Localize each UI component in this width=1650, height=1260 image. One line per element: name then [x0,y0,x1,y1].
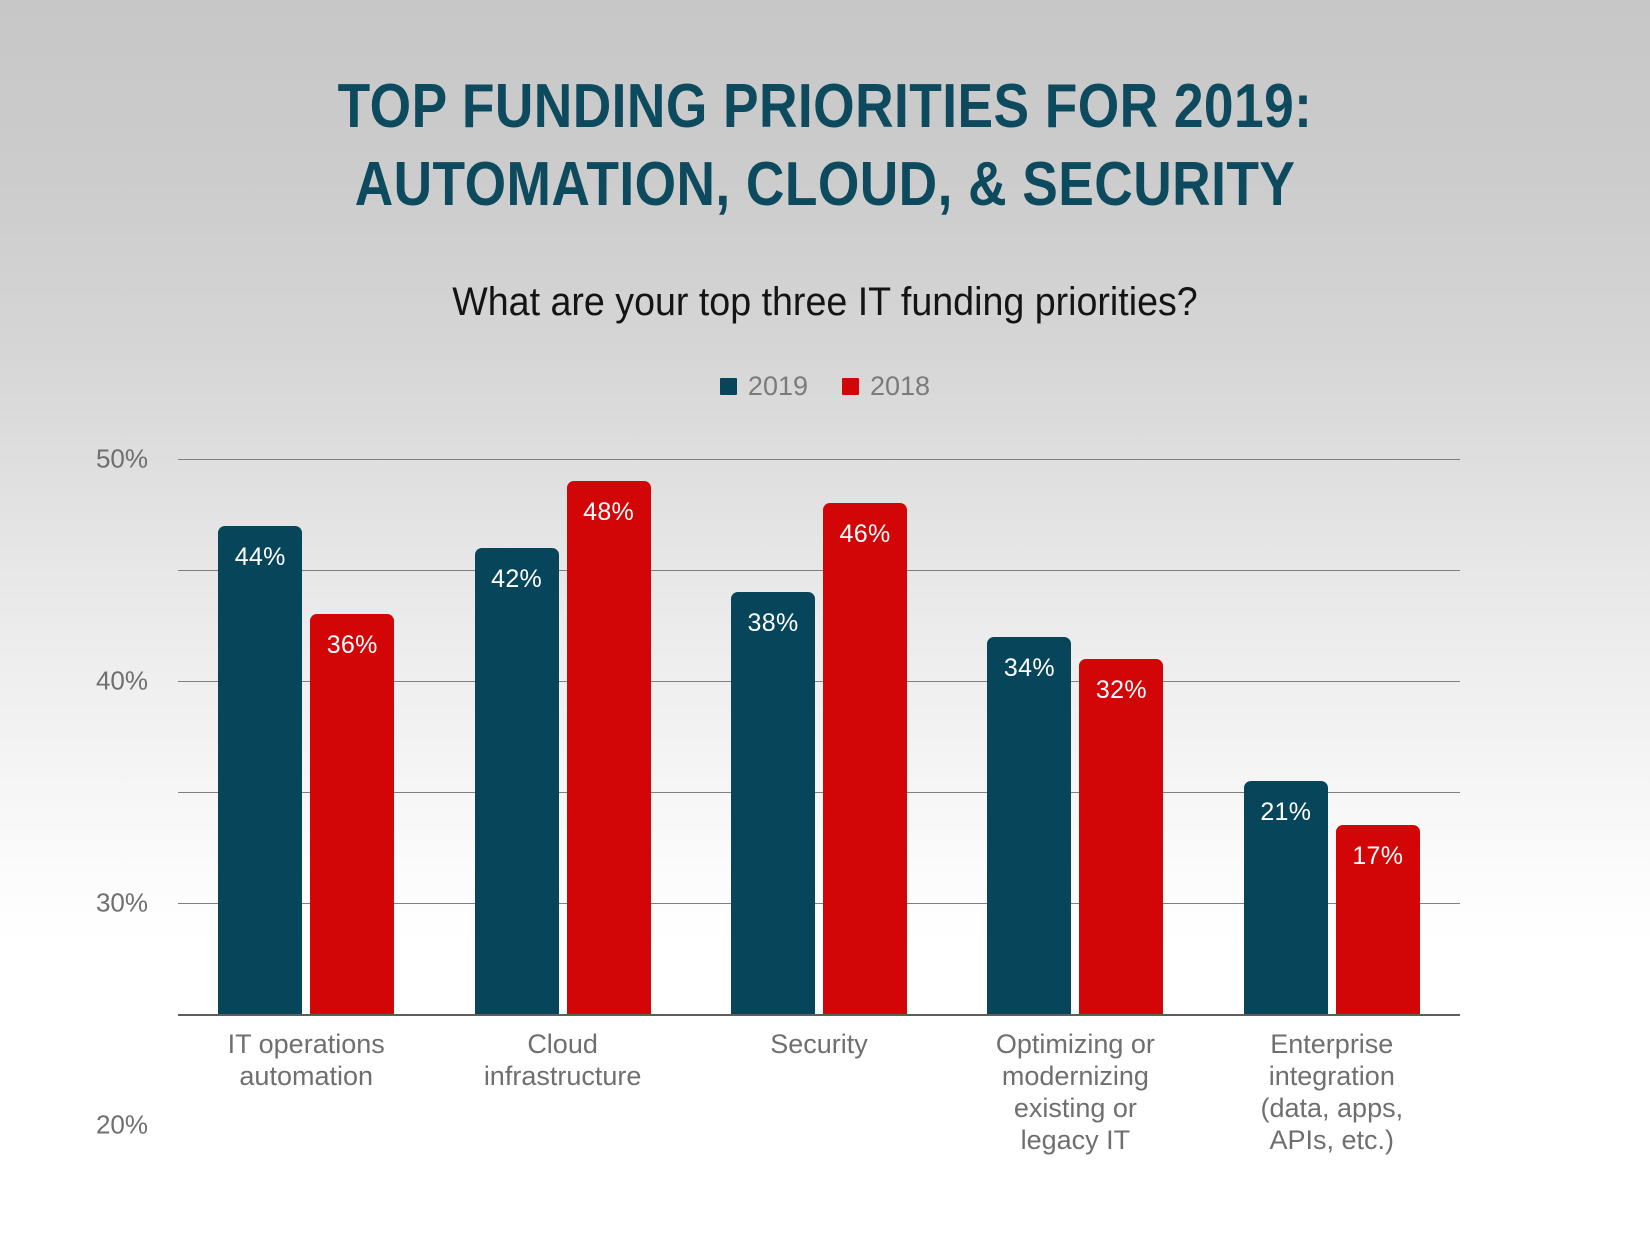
bar-value-label: 38% [731,609,815,637]
legend-item-2018[interactable]: 2018 [842,373,930,400]
gridline-0: 0% [178,1014,1460,1016]
plot-area: 50%40%30%20%10%0% 44%36%42%48%38%46%34%3… [178,459,1460,1014]
bar-groups: 44%36%42%48%38%46%34%32%21%17% [178,459,1460,1014]
y-axis-tick-label: 30% [96,888,148,919]
x-axis-label: Enterprise integration (data, apps, APIs… [1202,1028,1462,1156]
bar-2018[interactable]: 32% [1079,659,1163,1014]
chart-subtitle: What are your top three IT funding prior… [50,278,1601,326]
bar-group: 38%46% [731,459,907,1014]
bar-2019[interactable]: 21% [1244,781,1328,1014]
legend-label-2019: 2019 [748,373,808,400]
chart-legend: 2019 2018 [0,373,1650,400]
y-axis-tick-label: 50% [96,444,148,475]
bar-group: 21%17% [1244,459,1420,1014]
bar-value-label: 46% [823,520,907,548]
bar-2018[interactable]: 48% [567,481,651,1014]
bar-value-label: 36% [310,631,394,659]
bar-group: 42%48% [475,459,651,1014]
x-axis-label: Optimizing or modernizing existing or le… [945,1028,1205,1156]
x-axis-category-labels: IT operations automationCloud infrastruc… [178,1028,1460,1228]
bar-2018[interactable]: 46% [823,503,907,1014]
x-axis-label: Security [689,1028,949,1060]
bar-value-label: 21% [1244,798,1328,826]
bar-2018[interactable]: 17% [1336,825,1420,1014]
bar-value-label: 17% [1336,842,1420,870]
y-axis-tick-label: 20% [96,1110,148,1141]
bar-value-label: 48% [567,498,651,526]
page-title: TOP FUNDING PRIORITIES FOR 2019: AUTOMAT… [116,68,1535,224]
x-axis-label: IT operations automation [176,1028,436,1092]
bar-2018[interactable]: 36% [310,614,394,1014]
bar-group: 44%36% [218,459,394,1014]
bar-value-label: 32% [1079,676,1163,704]
y-axis-tick-label: 40% [96,666,148,697]
legend-label-2018: 2018 [870,373,930,400]
bar-group: 34%32% [987,459,1163,1014]
x-axis-label: Cloud infrastructure [433,1028,693,1092]
bar-2019[interactable]: 34% [987,637,1071,1014]
legend-item-2019[interactable]: 2019 [720,373,808,400]
chart-poster: TOP FUNDING PRIORITIES FOR 2019: AUTOMAT… [0,0,1650,1260]
bar-2019[interactable]: 38% [731,592,815,1014]
bar-2019[interactable]: 42% [475,548,559,1014]
legend-swatch-2019 [720,378,737,395]
bar-value-label: 42% [475,565,559,593]
bar-2019[interactable]: 44% [218,526,302,1014]
bar-value-label: 44% [218,543,302,571]
legend-swatch-2018 [842,378,859,395]
bar-value-label: 34% [987,654,1071,682]
